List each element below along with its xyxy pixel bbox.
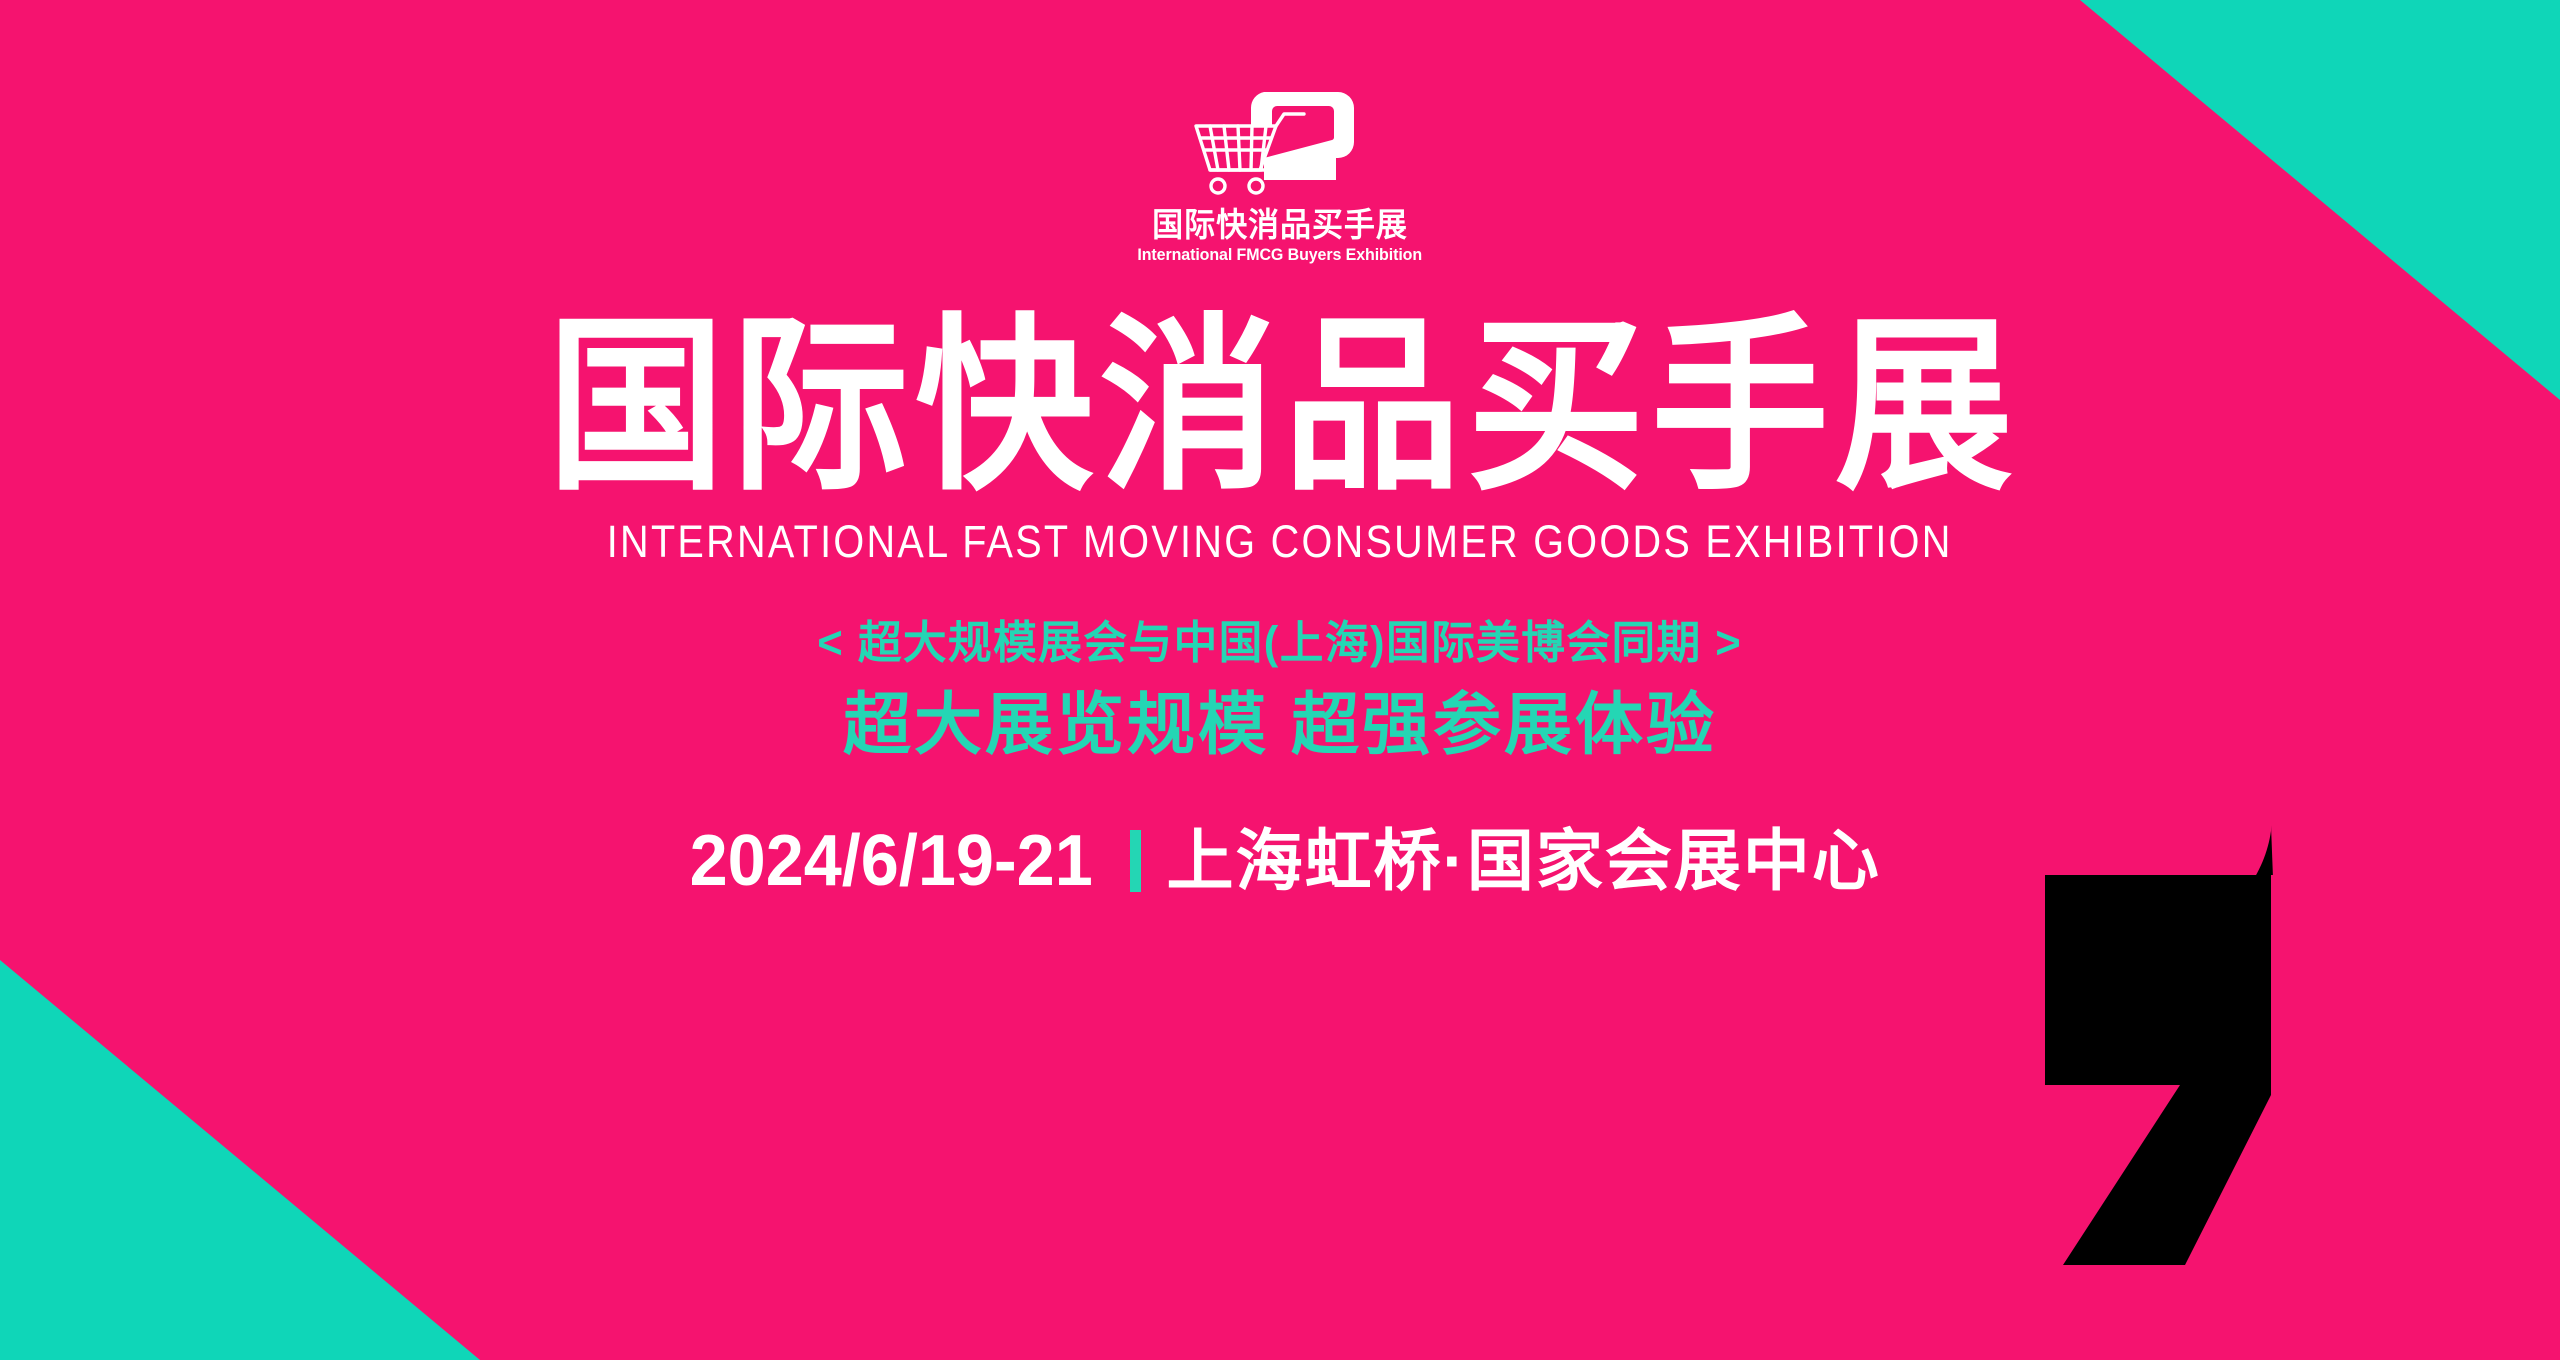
banner-content: 国际快消品买手展 International FMCG Buyers Exhib… [0, 0, 2560, 1360]
event-venue: 上海虹桥·国家会展中心 [1167, 828, 1881, 895]
date-venue-divider-icon [1130, 830, 1141, 892]
event-datebar: 2024/6/19-21 上海虹桥·国家会展中心 [679, 825, 1881, 897]
subtitle-slogan-line: 超大展览规模 超强参展体验 [843, 691, 1717, 759]
shopping-cart-with-two-icon [1180, 78, 1380, 198]
logo-name-cn: 国际快消品买手展 [1152, 208, 1408, 241]
logo-lockup: 国际快消品买手展 International FMCG Buyers Exhib… [1110, 78, 1450, 264]
logo-name-en: International FMCG Buyers Exhibition [1138, 247, 1423, 264]
headline-title-cn: 国际快消品买手展 [541, 310, 2019, 502]
exhibition-promo-banner: 国际快消品买手展 International FMCG Buyers Exhib… [0, 0, 2560, 1360]
event-date: 2024/6/19-21 [690, 825, 1093, 897]
headline-title-en: INTERNATIONAL FAST MOVING CONSUMER GOODS… [607, 519, 1953, 564]
subtitle-bracket-line: < 超大规模展会与中国(上海)国际美博会同期 > [818, 620, 1743, 665]
